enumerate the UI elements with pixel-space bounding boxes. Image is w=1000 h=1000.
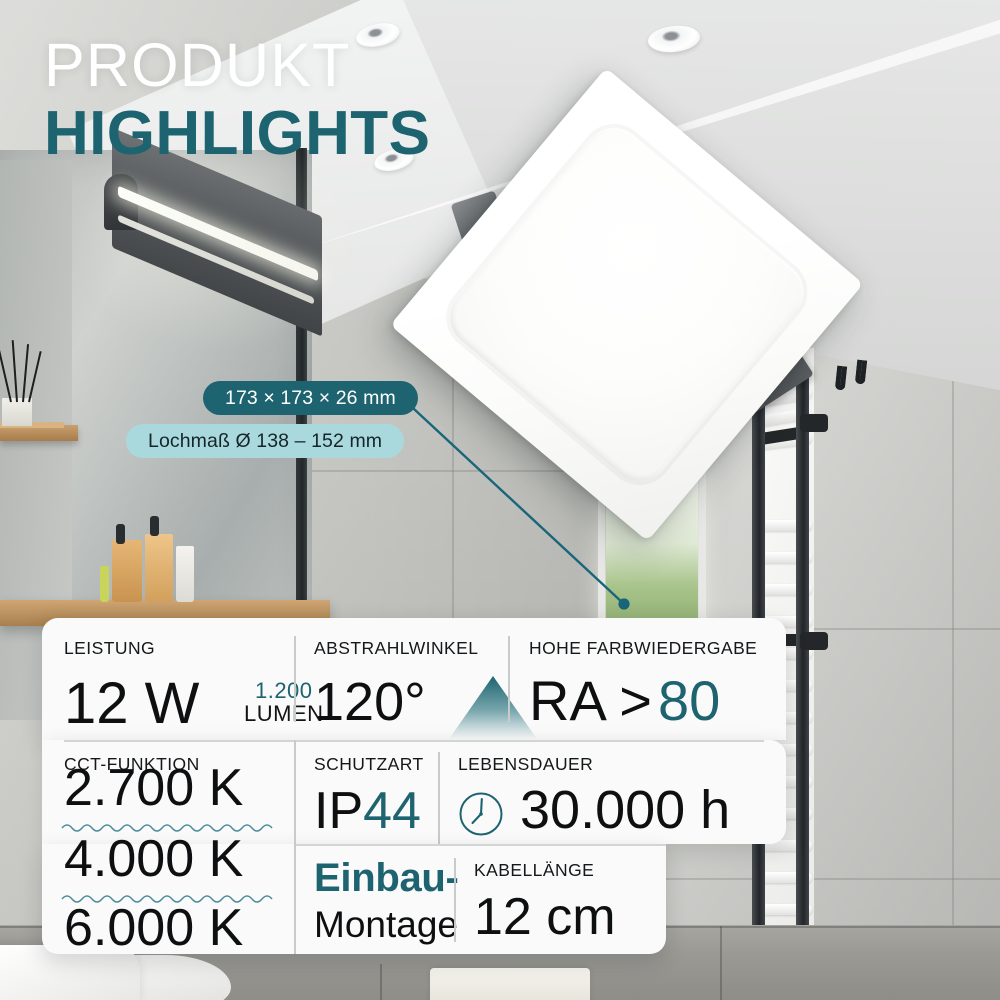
spec-lumen: 1.200 LUMEN	[244, 679, 324, 725]
spec-cct-values: 2.700 K	[64, 762, 254, 814]
spec-cct-values: 6.000 K	[64, 902, 254, 954]
spec-abstrahlwinkel: ABSTRAHLWINKEL 120°	[314, 638, 478, 733]
spec-cct-value: 2.700 K	[64, 762, 254, 814]
spec-schutzart-caption: SCHUTZART	[314, 754, 424, 775]
spec-leistung: LEISTUNG 12 W 1.200 LUMEN	[64, 638, 155, 733]
divider	[294, 740, 296, 954]
clock-icon	[458, 791, 504, 837]
spec-lebensdauer-caption: LEBENSDAUER	[458, 754, 593, 775]
divider	[294, 636, 296, 722]
soap-bottle-pump	[150, 516, 159, 536]
spec-kabellaenge-value: 12 cm	[474, 891, 616, 943]
dimensions-badge: 173 × 173 × 26 mm	[203, 381, 418, 415]
spec-card-row1: LEISTUNG 12 W 1.200 LUMEN ABSTRAHLWINKEL…	[42, 618, 786, 740]
floor-seam	[380, 964, 382, 1000]
divider	[64, 740, 764, 742]
title-line-1: PRODUKT	[44, 36, 430, 96]
cutout-badge: Lochmaß Ø 138 – 152 mm	[126, 424, 404, 458]
radiator-rail	[796, 368, 809, 968]
spec-montage-type: Einbau-	[314, 858, 459, 898]
divider	[438, 752, 440, 844]
spec-montage: Einbau- Montage	[314, 858, 459, 943]
spec-ra-prefix: RA >	[529, 669, 652, 732]
divider	[454, 858, 456, 942]
radiator-wall-bracket	[800, 632, 828, 650]
spec-cct-values: 4.000 K	[64, 833, 254, 885]
radiator-wall-bracket	[800, 414, 828, 432]
spec-farbwiedergabe-caption: HOHE FARBWIEDERGABE	[529, 638, 757, 659]
spec-farbwiedergabe-value: RA >80	[529, 673, 757, 729]
soap-bottle-pump	[116, 524, 125, 544]
spec-schutzart: SCHUTZART IP44	[314, 754, 424, 837]
spec-lebensdauer-value: 30.000 h	[520, 783, 730, 837]
reed-diffuser	[2, 398, 32, 426]
soap-bottle	[145, 534, 173, 602]
toiletry-item	[100, 566, 109, 602]
spec-lumen-label: LUMEN	[244, 702, 324, 725]
spec-leistung-value: 12 W	[64, 675, 199, 733]
floor-seam	[720, 926, 722, 1000]
spec-lebensdauer: LEBENSDAUER 30.000 h	[458, 754, 593, 845]
spec-leistung-caption: LEISTUNG	[64, 638, 155, 659]
spec-kabellaenge: KABELLÄNGE 12 cm	[474, 860, 616, 943]
toiletry-item	[176, 546, 194, 602]
page-title: PRODUKT HIGHLIGHTS	[44, 36, 430, 165]
infographic-canvas: PRODUKT HIGHLIGHTS 173 × 173 × 26 mm Loc…	[0, 0, 1000, 1000]
spec-ra-value: 80	[658, 669, 720, 732]
spec-schutzart-value: IP44	[314, 785, 424, 837]
beam-cone-triangle-icon	[448, 675, 538, 741]
spec-abstrahlwinkel-value: 120°	[314, 675, 426, 729]
tile-seam	[952, 300, 954, 940]
spec-ip-prefix: IP	[314, 782, 363, 840]
spec-lumen-value: 1.200	[244, 679, 324, 702]
spec-cct-value: 4.000 K	[64, 833, 254, 885]
spec-ip-rating: 44	[363, 782, 421, 840]
spec-farbwiedergabe: HOHE FARBWIEDERGABE RA >80	[529, 638, 757, 729]
bath-mat	[430, 968, 590, 1000]
spec-cct-value: 6.000 K	[64, 902, 254, 954]
divider	[508, 636, 510, 722]
spec-abstrahlwinkel-caption: ABSTRAHLWINKEL	[314, 638, 478, 659]
spec-kabellaenge-caption: KABELLÄNGE	[474, 860, 616, 881]
spec-montage-value: Montage	[314, 906, 459, 943]
title-line-2: HIGHLIGHTS	[44, 102, 430, 165]
soap-bottle	[112, 540, 142, 602]
divider	[294, 844, 666, 846]
